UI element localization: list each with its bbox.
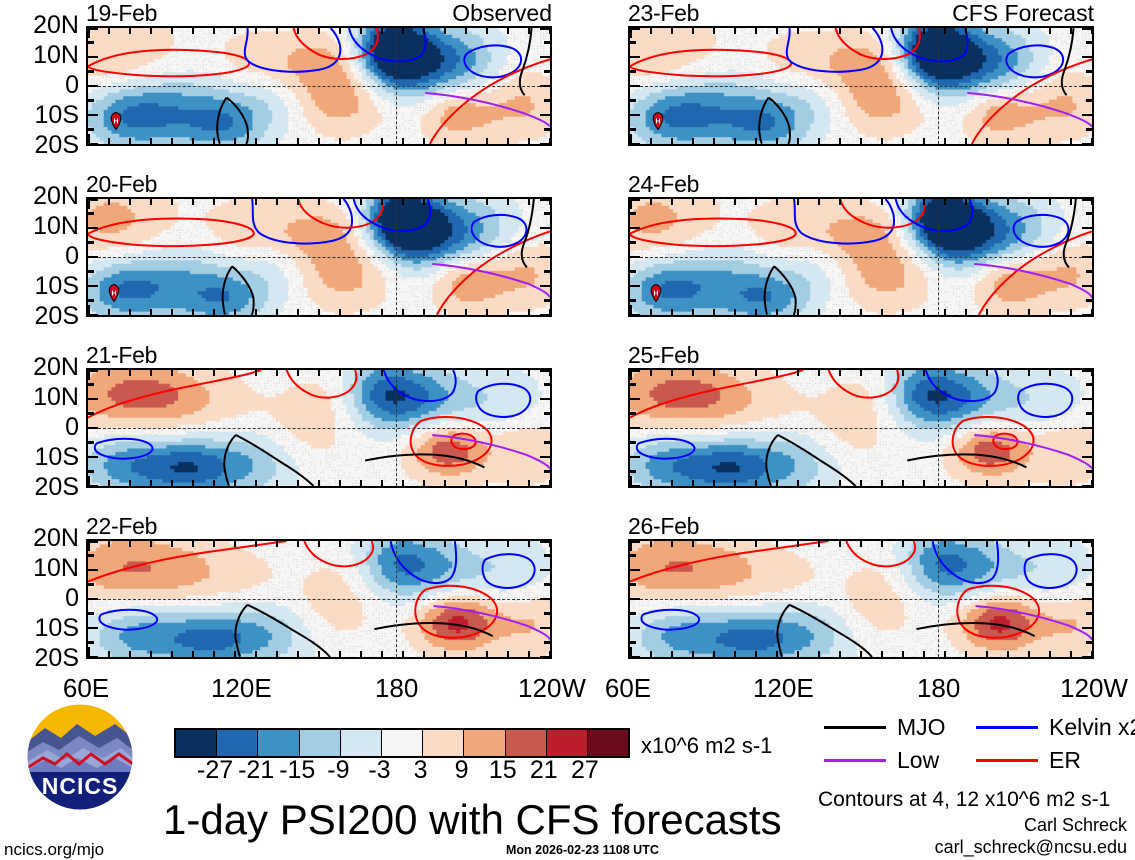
panel-25-feb: 25-Feb xyxy=(628,368,1094,488)
x-ticks-bottom xyxy=(630,307,1092,316)
map-plot-area: H xyxy=(628,26,1094,146)
dateline-guideline xyxy=(938,541,939,657)
dateline-guideline xyxy=(396,199,397,315)
y-ticks-left xyxy=(87,370,96,486)
svg-text:H: H xyxy=(655,118,660,125)
equator-guideline xyxy=(88,257,550,258)
contour-line xyxy=(99,610,157,630)
colorbar-swatch xyxy=(300,730,341,756)
ncics-logo-graphic: NCICS xyxy=(25,702,135,812)
colorbar xyxy=(174,728,630,758)
colorbar-swatch xyxy=(341,730,382,756)
colorbar-tick-label: 15 xyxy=(489,756,517,785)
ncics-logo-text: NCICS xyxy=(42,773,119,799)
x-ticks-top xyxy=(88,369,550,378)
x-ticks-top xyxy=(88,198,550,207)
x-ticks-bottom xyxy=(88,478,550,487)
x-ticks-bottom xyxy=(88,307,550,316)
contour-line xyxy=(88,50,249,76)
colorbar-tick-label: 21 xyxy=(530,756,558,785)
y-axis-label: 0 xyxy=(65,584,79,613)
panel-source-label: CFS Forecast xyxy=(952,0,1094,27)
y-axis-label: 20S xyxy=(35,131,79,160)
panel-date-label: 22-Feb xyxy=(86,513,157,540)
y-axis-label: 20S xyxy=(35,644,79,673)
contour-line xyxy=(483,554,535,588)
svg-text:H: H xyxy=(111,290,116,297)
page-title: 1-day PSI200 with CFS forecasts xyxy=(163,796,782,844)
y-ticks-right xyxy=(542,199,551,315)
x-ticks-bottom xyxy=(630,649,1092,658)
colorbar-unit-label: x10^6 m2 s-1 xyxy=(641,733,772,759)
contour-line xyxy=(967,93,1092,127)
contour-line xyxy=(957,586,1039,638)
coastlines xyxy=(134,201,466,308)
legend-label-mjo: MJO xyxy=(897,714,946,741)
mjo-line-swatch xyxy=(824,726,886,729)
x-ticks-top xyxy=(88,540,550,549)
hurricane-icon: H xyxy=(650,111,666,130)
y-axis-label: 20S xyxy=(35,302,79,331)
x-ticks-bottom xyxy=(88,136,550,145)
y-ticks-right xyxy=(1084,28,1093,144)
x-ticks-bottom xyxy=(630,478,1092,487)
legend-item-low: Low xyxy=(824,747,939,774)
svg-text:H: H xyxy=(653,290,658,297)
colorbar-swatch xyxy=(588,730,628,756)
map-plot-area xyxy=(86,539,552,659)
colorbar-tick-label: 3 xyxy=(414,756,428,785)
contour-line xyxy=(630,50,791,76)
equator-guideline xyxy=(630,599,1092,600)
contour-line xyxy=(1018,384,1072,417)
map-plot-area xyxy=(86,368,552,488)
hurricane-icon: H xyxy=(648,283,664,302)
contour-line xyxy=(472,215,527,247)
contour-line xyxy=(974,264,1092,298)
y-axis-label: 10N xyxy=(33,41,79,70)
y-ticks-right xyxy=(1084,370,1093,486)
x-axis-label: 120E xyxy=(753,673,814,704)
panel-24-feb: 24-FebH xyxy=(628,197,1094,317)
colorbar-swatch xyxy=(423,730,464,756)
dateline-guideline xyxy=(396,370,397,486)
dateline-guideline xyxy=(938,28,939,144)
dateline-guideline xyxy=(938,199,939,315)
x-ticks-top xyxy=(88,27,550,36)
y-ticks-left xyxy=(87,541,96,657)
contour-line xyxy=(1025,554,1077,588)
colorbar-tick-label: -3 xyxy=(368,756,390,785)
equator-guideline xyxy=(88,86,550,87)
colorbar-swatch xyxy=(382,730,423,756)
equator-guideline xyxy=(630,86,1092,87)
colorbar-swatch xyxy=(258,730,299,756)
coastlines xyxy=(134,30,466,137)
y-axis-label: 0 xyxy=(65,242,79,271)
kelvin-line-swatch xyxy=(976,726,1038,729)
equator-guideline xyxy=(630,257,1092,258)
contour-line xyxy=(972,59,1092,144)
panel-date-label: 21-Feb xyxy=(86,342,157,369)
coastlines xyxy=(676,201,1008,308)
legend-item-kelvin: Kelvin x2 xyxy=(976,714,1135,741)
panel-22-feb: 22-Feb20N10N010S20S60E120E180120W xyxy=(86,539,552,659)
contour-line xyxy=(415,586,497,638)
equator-guideline xyxy=(88,428,550,429)
panel-21-feb: 21-Feb20N10N010S20S xyxy=(86,368,552,488)
x-axis-label: 60E xyxy=(63,673,109,704)
colorbar-swatch xyxy=(506,730,547,756)
panel-date-label: 24-Feb xyxy=(628,171,699,198)
ncics-logo: NCICS xyxy=(25,702,135,812)
panel-date-label: 20-Feb xyxy=(86,171,157,198)
contour-line xyxy=(95,439,153,459)
contour-line xyxy=(88,218,254,246)
x-axis-label: 180 xyxy=(917,673,960,704)
colorbar-tick-label: -27 xyxy=(197,756,233,785)
colorbar-tick-label: 9 xyxy=(455,756,469,785)
legend-item-er: ER xyxy=(976,747,1081,774)
x-axis-label: 60E xyxy=(605,673,651,704)
author-name: Carl Schreck xyxy=(1024,815,1127,836)
y-axis-label: 0 xyxy=(65,413,79,442)
y-ticks-left xyxy=(629,28,638,144)
panel-23-feb: 23-FebCFS ForecastH xyxy=(628,26,1094,146)
y-axis-label: 10S xyxy=(35,614,79,643)
y-ticks-left xyxy=(629,541,638,657)
map-plot-area xyxy=(628,539,1094,659)
panel-date-label: 25-Feb xyxy=(628,342,699,369)
equator-guideline xyxy=(630,428,1092,429)
contour-line xyxy=(476,384,530,417)
coastlines xyxy=(676,30,1008,137)
equator-guideline xyxy=(88,599,550,600)
contour-line xyxy=(1014,215,1069,247)
x-ticks-top xyxy=(630,369,1092,378)
y-ticks-left xyxy=(87,199,96,315)
y-ticks-right xyxy=(542,28,551,144)
legend-label-er: ER xyxy=(1049,747,1081,774)
contour-line xyxy=(430,59,550,144)
y-axis-label: 10S xyxy=(35,272,79,301)
contour-line xyxy=(425,93,550,127)
author-email: carl_schreck@ncsu.edu xyxy=(935,837,1127,858)
colorbar-swatch xyxy=(464,730,505,756)
legend-label-low: Low xyxy=(897,747,939,774)
contour-note: Contours at 4, 12 x10^6 m2 s-1 xyxy=(818,788,1110,812)
x-axis-label: 120W xyxy=(1060,673,1128,704)
y-axis-label: 20N xyxy=(33,11,79,40)
y-ticks-left xyxy=(629,370,638,486)
panel-20-feb: 20-FebH20N10N010S20S xyxy=(86,197,552,317)
dateline-guideline xyxy=(396,28,397,144)
y-ticks-left xyxy=(87,28,96,144)
colorbar-tick-label: -15 xyxy=(279,756,315,785)
x-axis-label: 120W xyxy=(518,673,586,704)
y-axis-label: 10S xyxy=(35,101,79,130)
figure-root: 19-FebObservedH20N10N010S20S20-FebH20N10… xyxy=(0,0,1135,860)
legend-item-mjo: MJO xyxy=(824,714,946,741)
svg-text:H: H xyxy=(113,118,118,125)
x-ticks-top xyxy=(630,540,1092,549)
y-axis-label: 10N xyxy=(33,383,79,412)
panel-date-label: 23-Feb xyxy=(628,0,699,27)
contour-line xyxy=(637,439,695,459)
colorbar-tick-label: -9 xyxy=(327,756,349,785)
y-axis-label: 20N xyxy=(33,524,79,553)
x-axis-label: 180 xyxy=(375,673,418,704)
contour-line xyxy=(630,218,796,246)
y-ticks-right xyxy=(1084,541,1093,657)
y-ticks-left xyxy=(629,199,638,315)
x-ticks-top xyxy=(630,27,1092,36)
panel-date-label: 19-Feb xyxy=(86,0,157,27)
legend-label-kelvin: Kelvin x2 xyxy=(1049,714,1135,741)
dateline-guideline xyxy=(938,370,939,486)
y-axis-label: 10S xyxy=(35,443,79,472)
site-url: ncics.org/mjo xyxy=(4,840,104,860)
x-ticks-bottom xyxy=(630,136,1092,145)
map-plot-area: H xyxy=(86,197,552,317)
map-plot-area: H xyxy=(628,197,1094,317)
x-axis-label: 120E xyxy=(211,673,272,704)
y-ticks-right xyxy=(542,541,551,657)
map-plot-area xyxy=(628,368,1094,488)
y-axis-label: 20N xyxy=(33,182,79,211)
x-ticks-bottom xyxy=(88,649,550,658)
hurricane-icon: H xyxy=(108,111,124,130)
low-line-swatch xyxy=(824,759,886,762)
panel-date-label: 26-Feb xyxy=(628,513,699,540)
y-axis-label: 0 xyxy=(65,71,79,100)
colorbar-swatch xyxy=(547,730,588,756)
panel-19-feb: 19-FebObservedH20N10N010S20S xyxy=(86,26,552,146)
y-ticks-right xyxy=(542,370,551,486)
colorbar-tick-label: 27 xyxy=(571,756,599,785)
panel-source-label: Observed xyxy=(452,0,552,27)
er-line-swatch xyxy=(976,759,1038,762)
contour-line xyxy=(641,610,699,630)
colorbar-tick-label: -21 xyxy=(238,756,274,785)
x-ticks-top xyxy=(630,198,1092,207)
y-axis-label: 20S xyxy=(35,473,79,502)
contour-line xyxy=(432,264,550,298)
contour-legend: MJO Kelvin x2 Low ER xyxy=(824,714,1124,784)
y-ticks-right xyxy=(1084,199,1093,315)
colorbar-swatch xyxy=(176,730,217,756)
map-plot-area: H xyxy=(86,26,552,146)
panel-26-feb: 26-Feb60E120E180120W xyxy=(628,539,1094,659)
y-axis-label: 10N xyxy=(33,212,79,241)
colorbar-swatch xyxy=(217,730,258,756)
y-axis-label: 20N xyxy=(33,353,79,382)
dateline-guideline xyxy=(396,541,397,657)
hurricane-icon: H xyxy=(106,283,122,302)
y-axis-label: 10N xyxy=(33,554,79,583)
render-timestamp: Mon 2026-02-23 1108 UTC xyxy=(506,843,659,857)
